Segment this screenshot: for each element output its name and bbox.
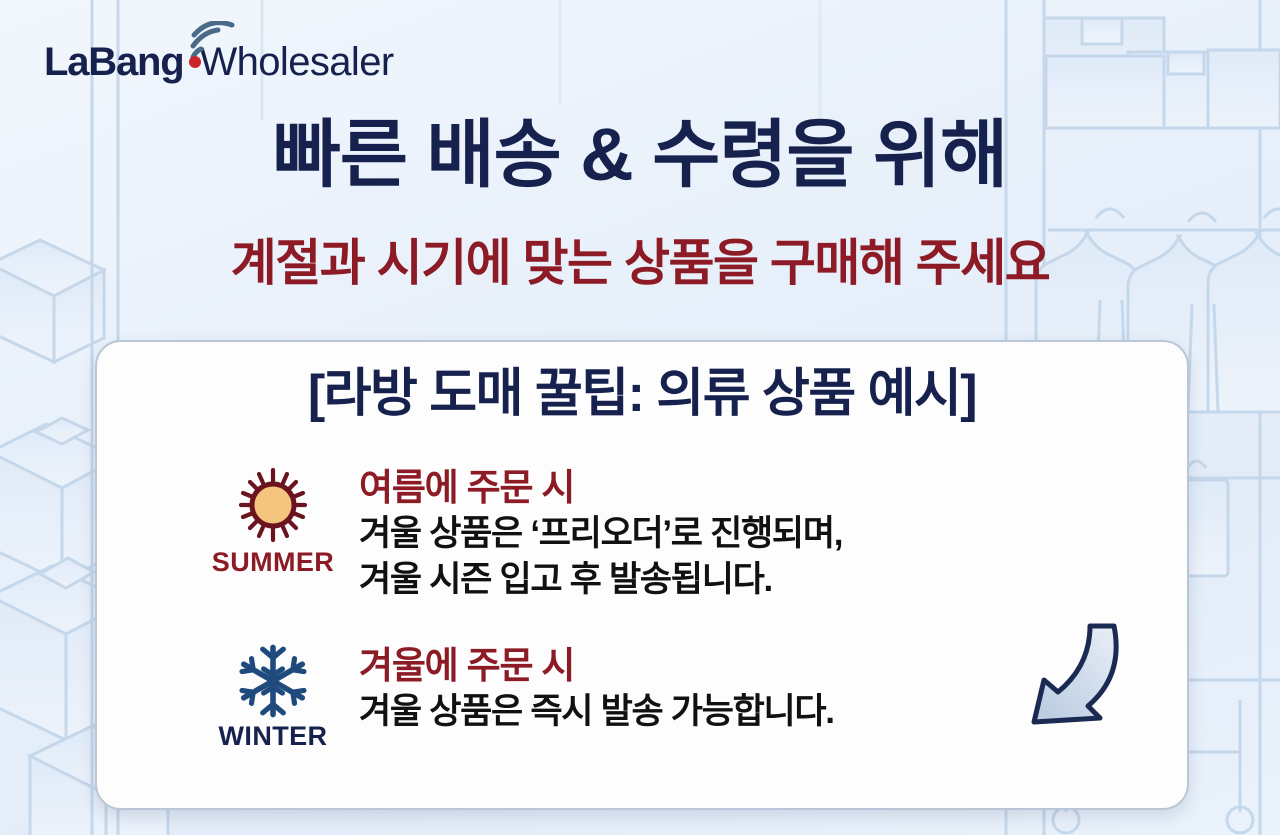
logo-accent-dot bbox=[189, 56, 201, 68]
winter-badge: WINTER bbox=[197, 644, 349, 752]
season-row-summer: SUMMER 여름에 주문 시 겨울 상품은 ‘프리오더’로 진행되며, 겨울 … bbox=[197, 466, 842, 603]
page-headline: 빠른 배송 & 수령을 위해 bbox=[0, 118, 1280, 192]
sun-icon-wrap bbox=[223, 466, 323, 544]
winter-text-block: 겨울에 주문 시 겨울 상품은 즉시 발송 가능합니다. bbox=[349, 644, 834, 734]
summer-badge: SUMMER bbox=[197, 466, 349, 578]
tip-card: [라방 도매 꿀팁: 의류 상품 예시] bbox=[95, 340, 1189, 810]
winter-label: WINTER bbox=[219, 721, 328, 752]
page-subheadline: 계절과 시기에 맞는 상품을 구매해 주세요 bbox=[0, 238, 1280, 288]
summer-body-line2: 겨울 시즌 입고 후 발송됩니다. bbox=[359, 558, 842, 603]
snowflake-icon-wrap bbox=[230, 644, 316, 718]
curved-down-left-arrow-icon bbox=[1014, 622, 1136, 734]
winter-heading: 겨울에 주문 시 bbox=[359, 644, 834, 688]
wifi-signal-icon bbox=[181, 21, 243, 73]
summer-heading: 여름에 주문 시 bbox=[359, 466, 842, 510]
summer-text-block: 여름에 주문 시 겨울 상품은 ‘프리오더’로 진행되며, 겨울 시즌 입고 후… bbox=[349, 466, 842, 603]
summer-label: SUMMER bbox=[212, 547, 334, 578]
sun-icon bbox=[223, 466, 323, 544]
brand-name-bold: LaBang bbox=[44, 42, 183, 82]
winter-body-line1: 겨울 상품은 즉시 발송 가능합니다. bbox=[359, 690, 834, 735]
poster-canvas: LaBang Wholesaler 빠른 배송 & 수령을 위해 계절과 시기에… bbox=[0, 0, 1280, 835]
season-row-winter: WINTER 겨울에 주문 시 겨울 상품은 즉시 발송 가능합니다. bbox=[197, 644, 834, 752]
summer-body-line1: 겨울 상품은 ‘프리오더’로 진행되며, bbox=[359, 512, 842, 557]
snowflake-icon bbox=[230, 644, 316, 718]
card-title: [라방 도매 꿀팁: 의류 상품 예시] bbox=[97, 368, 1187, 420]
